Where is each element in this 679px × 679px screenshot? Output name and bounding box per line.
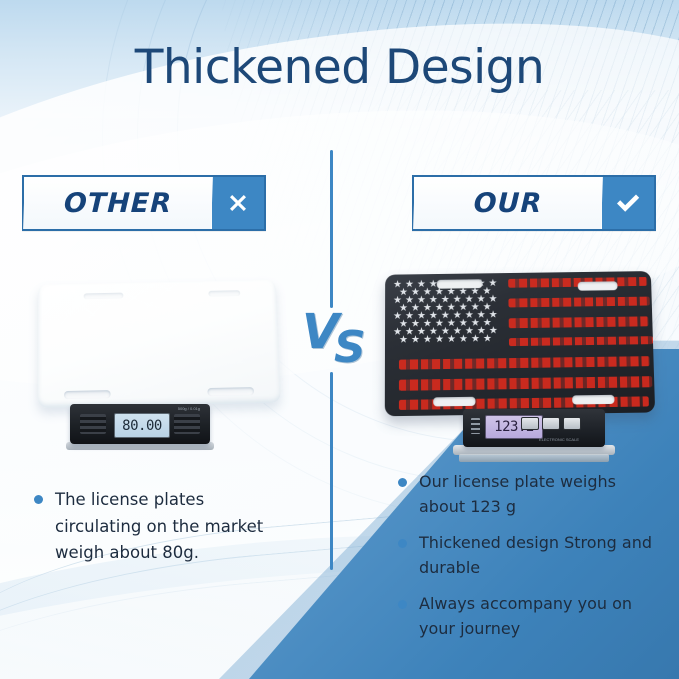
plate-slot-top-right — [208, 290, 240, 296]
digital-scale-right: 123.2 ELECTRONIC SCALE — [463, 409, 605, 447]
flag-stripe-2 — [508, 297, 649, 308]
scale-left-vent-left — [80, 414, 106, 434]
plate-slot-bottom-left — [64, 390, 111, 399]
list-item: The license plates circulating on the ma… — [34, 487, 284, 567]
bullet-text: Always accompany you on your journey — [419, 592, 658, 642]
scale-right-base-lower — [459, 454, 609, 462]
plate-slot-top-left — [84, 293, 124, 300]
bullet-dot-icon — [398, 539, 407, 548]
flag-stripe-6 — [399, 376, 652, 391]
bullet-dot-icon — [34, 495, 43, 504]
scale-right-indicator — [471, 418, 480, 434]
scale-button-2[interactable] — [542, 417, 560, 430]
badge-our-label: OUR — [413, 177, 603, 229]
flag-plate-slot-top-right — [578, 281, 618, 290]
flag-plate-slot-bottom-left — [433, 397, 475, 407]
list-item: Always accompany you on your journey — [398, 592, 658, 642]
scale-right-sublabel: ELECTRONIC SCALE — [539, 437, 579, 442]
infographic-canvas: Thickened Design OTHER OUR V S — [0, 0, 679, 679]
flag-plate-slot-bottom-right — [572, 395, 614, 405]
scale-button-1[interactable] — [521, 417, 539, 430]
versus-label: V S — [300, 306, 370, 376]
bullet-list-left: The license plates circulating on the ma… — [34, 487, 284, 578]
list-item: Thickened design Strong and durable — [398, 531, 658, 581]
product-image-flag-plate: ★★★★★★★★★ ★★★★★★★★ ★★★★★★★★★ ★★★★★★★★ ★★… — [385, 271, 655, 416]
flag-plate-slot-top-left — [437, 279, 483, 288]
bullet-dot-icon — [398, 478, 407, 487]
bullet-dot-icon — [398, 600, 407, 609]
bullet-text: Thickened design Strong and durable — [419, 531, 658, 581]
scale-left-vent-right — [174, 414, 200, 434]
cross-icon — [212, 177, 264, 229]
flag-stripe-5 — [399, 356, 650, 370]
page-title: Thickened Design — [0, 44, 679, 91]
scale-left-reading: 80.00 — [114, 413, 170, 438]
plate-slot-bottom-right — [207, 387, 254, 396]
flag-stripe-4 — [509, 336, 653, 346]
scale-button-3[interactable] — [563, 417, 581, 430]
vertical-divider-bottom — [330, 372, 333, 570]
product-image-blank-plate — [38, 280, 281, 408]
versus-s: S — [334, 326, 366, 370]
digital-scale-left: 500g / 0.01g 80.00 — [70, 404, 210, 444]
bullet-text: Our license plate weighs about 123 g — [419, 470, 658, 520]
bullet-text: The license plates circulating on the ma… — [55, 487, 284, 567]
vertical-divider-top — [330, 150, 333, 308]
list-item: Our license plate weighs about 123 g — [398, 470, 658, 520]
badge-other[interactable]: OTHER — [22, 175, 266, 231]
badge-other-label: OTHER — [23, 177, 213, 229]
scale-left-brand: 500g / 0.01g — [178, 406, 200, 411]
flag-stripe-3 — [509, 316, 649, 328]
scale-right-buttons[interactable] — [521, 417, 581, 430]
check-icon — [602, 177, 654, 229]
badge-our[interactable]: OUR — [412, 175, 656, 231]
bullet-list-right: Our license plate weighs about 123 g Thi… — [398, 470, 658, 653]
flag-stars: ★★★★★★★★★ ★★★★★★★★ ★★★★★★★★★ ★★★★★★★★ ★★… — [393, 279, 501, 350]
